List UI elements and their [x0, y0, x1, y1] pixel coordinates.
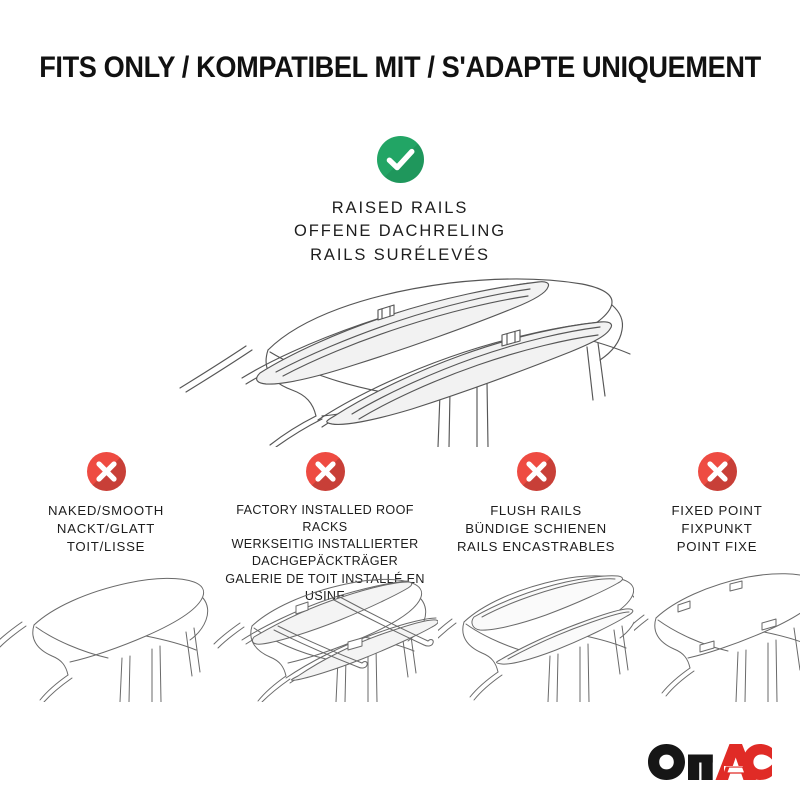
- car-roof-raised-rails-illustration: [150, 272, 650, 447]
- omac-logo: OMAC: [646, 742, 774, 782]
- item-label-fr: TOIT/LISSE: [4, 538, 208, 556]
- item-label-de: FIXPUNKT: [638, 520, 796, 538]
- item-label-en: NAKED/SMOOTH: [4, 502, 208, 520]
- item-label-en: FACTORY INSTALLED ROOF RACKS: [216, 502, 434, 536]
- item-labels: FIXED POINT FIXPUNKT POINT FIXE: [634, 502, 800, 556]
- x-circle-icon: [87, 452, 126, 491]
- item-label-de-1: WERKSEITIG INSTALLIERTER: [216, 536, 434, 553]
- compatible-label-en: RAISED RAILS: [0, 197, 800, 220]
- not-compatible-item-fixed-point: FIXED POINT FIXPUNKT POINT FIXE: [634, 452, 800, 702]
- car-roof-fixed-point-illustration: [634, 570, 800, 702]
- item-label-fr: RAILS ENCASTRABLES: [442, 538, 630, 556]
- check-circle-icon: [377, 136, 424, 183]
- not-compatible-item-factory-roof-racks: FACTORY INSTALLED ROOF RACKS WERKSEITIG …: [212, 452, 438, 702]
- item-label-de: BÜNDIGE SCHIENEN: [442, 520, 630, 538]
- item-labels: FLUSH RAILS BÜNDIGE SCHIENEN RAILS ENCAS…: [438, 502, 634, 556]
- item-label-de: NACKT/GLATT: [4, 520, 208, 538]
- item-labels: NAKED/SMOOTH NACKT/GLATT TOIT/LISSE: [0, 502, 212, 556]
- item-label-en: FIXED POINT: [638, 502, 796, 520]
- car-roof-flush-rails-illustration: [438, 570, 634, 702]
- car-roof-naked-illustration: [0, 570, 212, 702]
- x-circle-icon: [306, 452, 345, 491]
- page-title: FITS ONLY / KOMPATIBEL MIT / S'ADAPTE UN…: [32, 52, 768, 84]
- not-compatible-item-flush-rails: FLUSH RAILS BÜNDIGE SCHIENEN RAILS ENCAS…: [438, 452, 634, 702]
- item-label-de-2: DACHGEPÄCKTRÄGER: [216, 553, 434, 570]
- compatible-label-fr: RAILS SURÉLEVÉS: [0, 244, 800, 267]
- not-compatible-item-naked-smooth: NAKED/SMOOTH NACKT/GLATT TOIT/LISSE: [0, 452, 212, 702]
- not-compatible-section: NAKED/SMOOTH NACKT/GLATT TOIT/LISSE: [0, 452, 800, 702]
- compatible-section: RAISED RAILS OFFENE DACHRELING RAILS SUR…: [0, 136, 800, 267]
- compatible-labels: RAISED RAILS OFFENE DACHRELING RAILS SUR…: [0, 197, 800, 267]
- compatible-label-de: OFFENE DACHRELING: [0, 220, 800, 243]
- x-circle-icon: [517, 452, 556, 491]
- item-label-fr: POINT FIXE: [638, 538, 796, 556]
- item-label-en: FLUSH RAILS: [442, 502, 630, 520]
- x-circle-icon: [698, 452, 737, 491]
- fitment-compatibility-graphic: FITS ONLY / KOMPATIBEL MIT / S'ADAPTE UN…: [0, 0, 800, 800]
- car-roof-factory-racks-illustration: [212, 570, 438, 702]
